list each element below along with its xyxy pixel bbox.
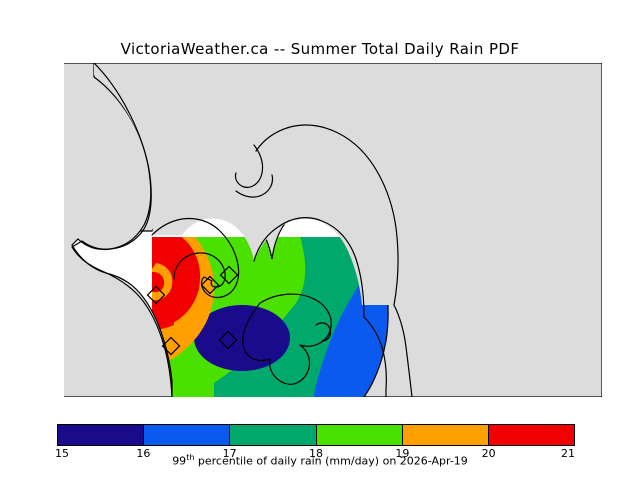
weather-map	[64, 63, 602, 397]
colorbar-band-orange	[402, 425, 488, 445]
station-marker	[220, 332, 237, 349]
colorbar-caption: 99th percentile of daily rain (mm/day) o…	[0, 453, 640, 468]
colorbar-band-red	[488, 425, 574, 445]
caption-rest: percentile of daily rain (mm/day) on 202…	[194, 455, 467, 468]
colorbar-band-blue	[143, 425, 229, 445]
station-marker-layer	[64, 63, 602, 397]
colorbar: 15161718192021	[57, 424, 577, 448]
station-marker	[202, 277, 219, 294]
page-title: VictoriaWeather.ca -- Summer Total Daily…	[0, 40, 640, 58]
colorbar-band-navy	[58, 425, 143, 445]
station-marker	[163, 338, 180, 355]
station-marker	[148, 287, 165, 304]
caption-prefix: 99	[172, 455, 186, 468]
colorbar-bands	[57, 424, 575, 446]
colorbar-band-lime-green	[316, 425, 402, 445]
colorbar-band-teal-green	[229, 425, 315, 445]
station-marker	[221, 267, 238, 284]
